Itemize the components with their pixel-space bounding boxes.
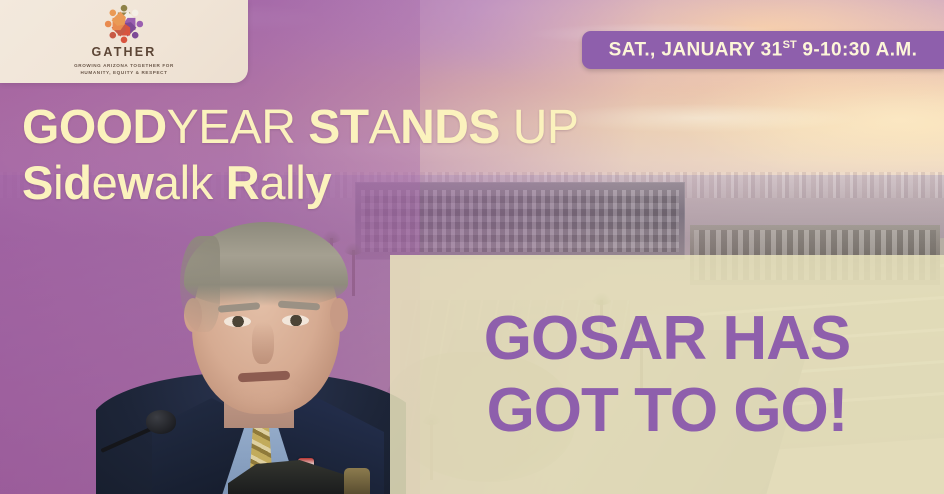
microphone-second bbox=[344, 468, 370, 494]
eye-right bbox=[282, 315, 309, 326]
call-to-action-panel: GOSAR HAS GOT TO GO! bbox=[390, 255, 944, 494]
logo-tagline: GROWING ARIZONA TOGETHER FOR HUMANITY, E… bbox=[74, 62, 174, 76]
headline-run: UP bbox=[500, 101, 579, 154]
headline-run: d bbox=[63, 156, 91, 209]
chin bbox=[224, 380, 306, 414]
date-time-banner: SAT., JANUARY 31ST 9-10:30 A.M. bbox=[582, 31, 944, 69]
ear-right bbox=[330, 298, 348, 332]
headline-run: i bbox=[53, 156, 63, 209]
gather-logo-card: GATHER GROWING ARIZONA TOGETHER FOR HUMA… bbox=[0, 0, 248, 83]
headline-run: A bbox=[369, 101, 401, 154]
date-suffix: 9-10:30 A.M. bbox=[797, 39, 918, 60]
headline-run: e bbox=[92, 156, 118, 209]
date-ordinal: ST bbox=[783, 39, 797, 51]
logo-wordmark: GATHER bbox=[91, 46, 156, 59]
headline-run: ST bbox=[295, 101, 368, 154]
headline-block: GOODYEAR STANDS UP Sidewalk Rally bbox=[22, 104, 578, 207]
headline-run: NDS bbox=[400, 101, 500, 154]
politician-portrait bbox=[96, 222, 406, 494]
hair-side bbox=[180, 236, 220, 332]
headline-run: all bbox=[259, 156, 305, 209]
cta-line-1: GOSAR HAS bbox=[484, 308, 850, 370]
headline-run: R bbox=[213, 156, 259, 209]
eye-left bbox=[224, 316, 251, 327]
headline-line-1: GOODYEAR STANDS UP bbox=[22, 104, 578, 151]
headline-run: GOOD bbox=[22, 101, 167, 154]
cta-line-2: GOT TO GO! bbox=[487, 380, 848, 442]
nose bbox=[252, 322, 274, 364]
headline-run: w bbox=[117, 156, 153, 209]
date-prefix: SAT., JANUARY 31 bbox=[609, 39, 783, 60]
microphone-boom bbox=[96, 408, 178, 468]
date-time-text: SAT., JANUARY 31ST 9-10:30 A.M. bbox=[609, 39, 918, 61]
call-to-action-text: GOSAR HAS GOT TO GO! bbox=[390, 255, 944, 494]
headline-run: YEAR bbox=[167, 101, 296, 154]
headline-run: y bbox=[305, 156, 331, 209]
headline-line-2: Sidewalk Rally bbox=[22, 159, 578, 207]
event-poster: GATHER GROWING ARIZONA TOGETHER FOR HUMA… bbox=[0, 0, 944, 494]
gather-people-circle-icon bbox=[101, 2, 147, 46]
headline-run: alk bbox=[154, 156, 213, 209]
headline-run: S bbox=[22, 156, 53, 209]
